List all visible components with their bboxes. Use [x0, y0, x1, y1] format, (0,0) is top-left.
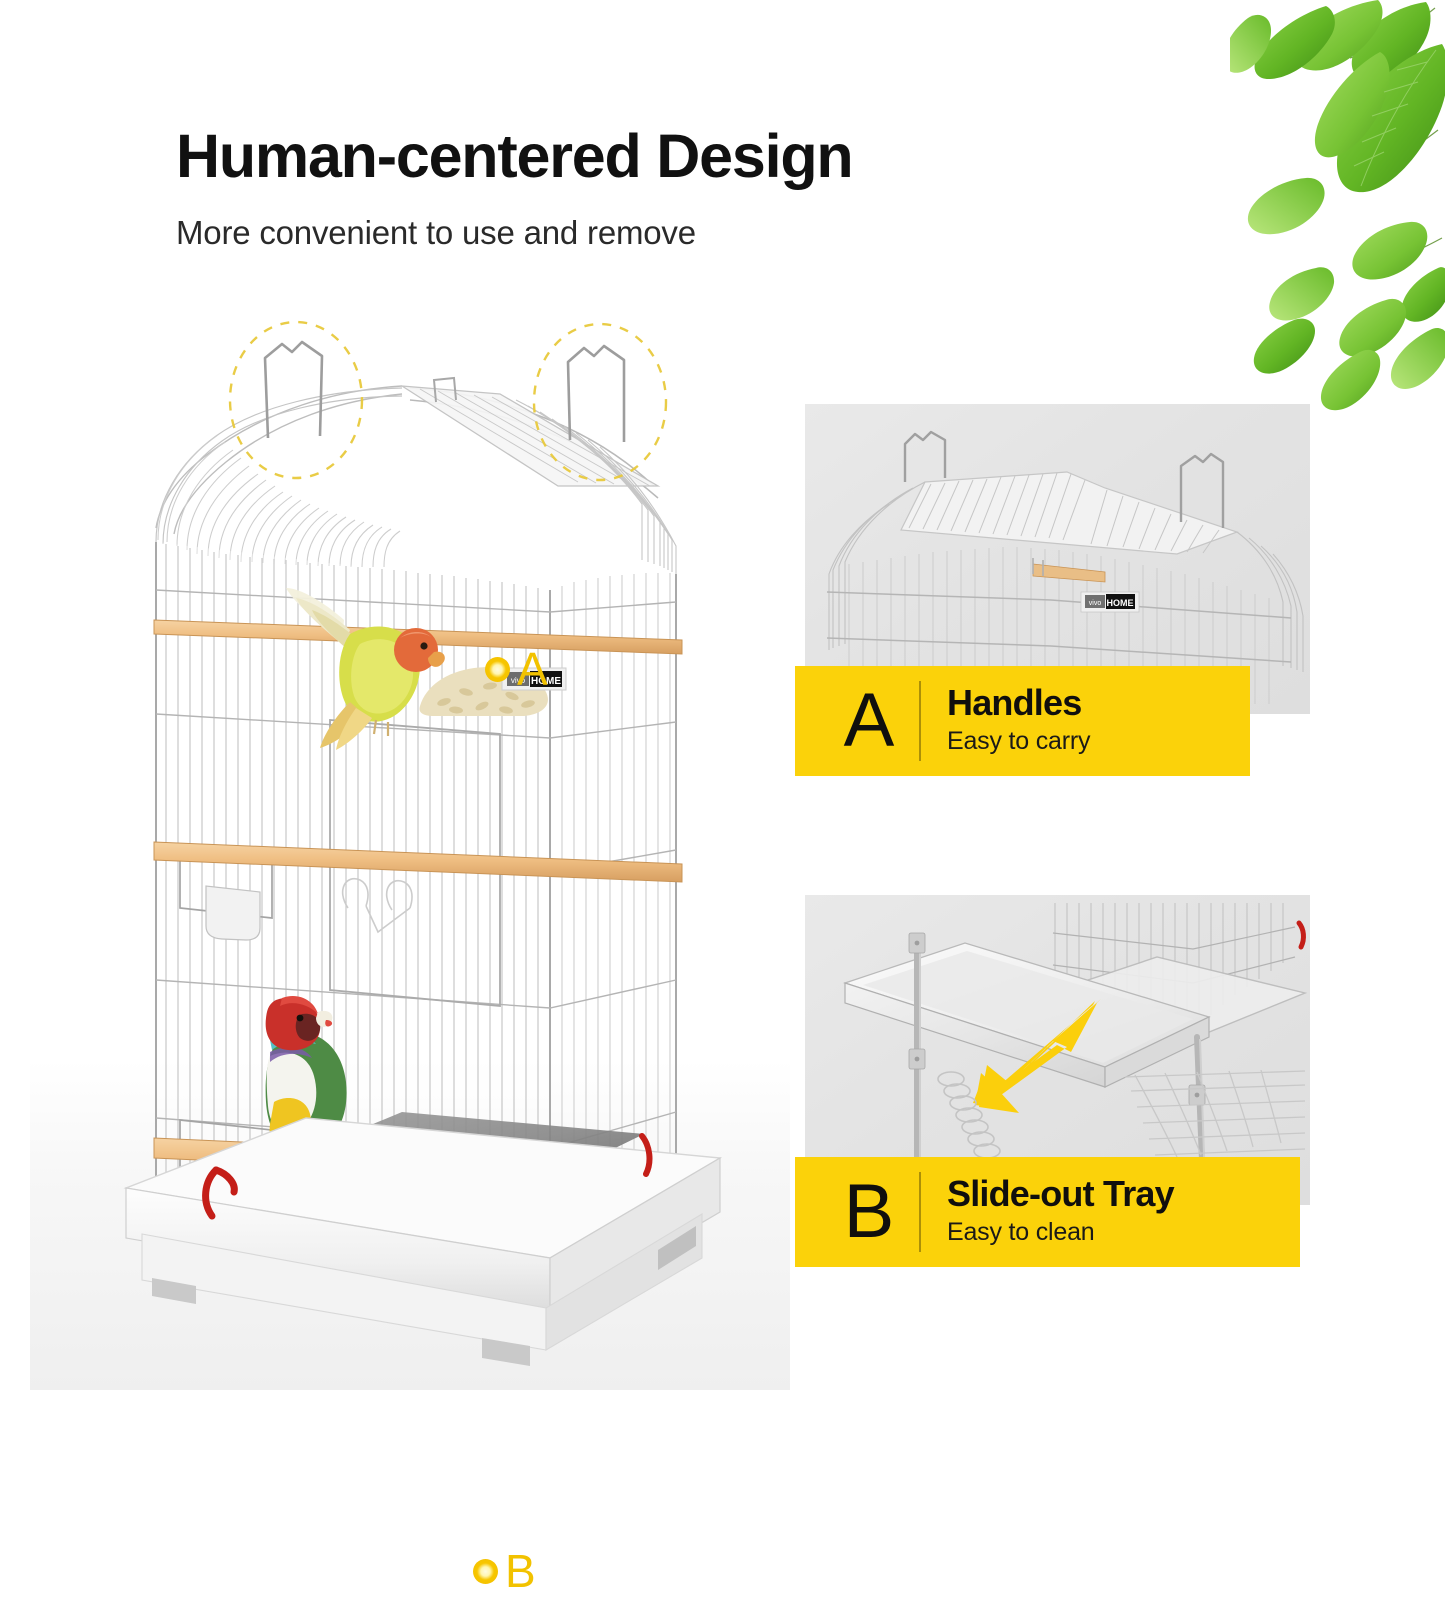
cage-handle-left [265, 342, 322, 438]
leaves-decoration [1230, 0, 1445, 430]
panel-b-latch [1299, 923, 1303, 947]
marker-a: A [485, 646, 548, 692]
panel-a-banner: A Handles Easy to carry [795, 666, 1250, 776]
panel-a-subtitle: Easy to carry [947, 726, 1090, 757]
panel-brand-plate: vivo HOME [1081, 592, 1139, 612]
marker-dot-b [473, 1559, 498, 1584]
panel-a-title: Handles [947, 684, 1090, 723]
divider [919, 1172, 921, 1252]
panel-b-subtitle: Easy to clean [947, 1217, 1174, 1248]
svg-text:HOME: HOME [1107, 598, 1134, 608]
panel-b-letter: B [829, 1174, 909, 1250]
leaves-icon [1230, 0, 1445, 430]
panel-a-letter: A [829, 683, 909, 759]
marker-b: B [473, 1548, 536, 1594]
feeder-cup-upper [206, 886, 260, 940]
divider [919, 681, 921, 761]
bottom-wire-shelf [1125, 1070, 1305, 1157]
marker-dot-a [485, 657, 510, 682]
header: Human-centered Design More convenient to… [176, 124, 1076, 252]
panel-b-banner: B Slide-out Tray Easy to clean [795, 1157, 1300, 1267]
feature-panel-b: B Slide-out Tray Easy to clean [805, 895, 1310, 1267]
marker-letter-a: A [517, 646, 548, 692]
panel-perch [1033, 564, 1105, 582]
page-title: Human-centered Design [176, 124, 1076, 188]
cage-handle-right [568, 346, 624, 442]
birdcage-illustration: vivo HOME [30, 290, 790, 1390]
cage-base [126, 1118, 720, 1366]
panel-handle-left [905, 432, 945, 482]
feature-panel-a: vivo HOME A Handles Easy to carry [805, 404, 1310, 776]
panel-b-title: Slide-out Tray [947, 1175, 1174, 1214]
svg-text:vivo: vivo [1089, 600, 1102, 607]
marker-letter-b: B [505, 1548, 536, 1594]
product-hero-image: vivo HOME A B [30, 290, 790, 1390]
page-subtitle: More convenient to use and remove [176, 214, 1076, 252]
